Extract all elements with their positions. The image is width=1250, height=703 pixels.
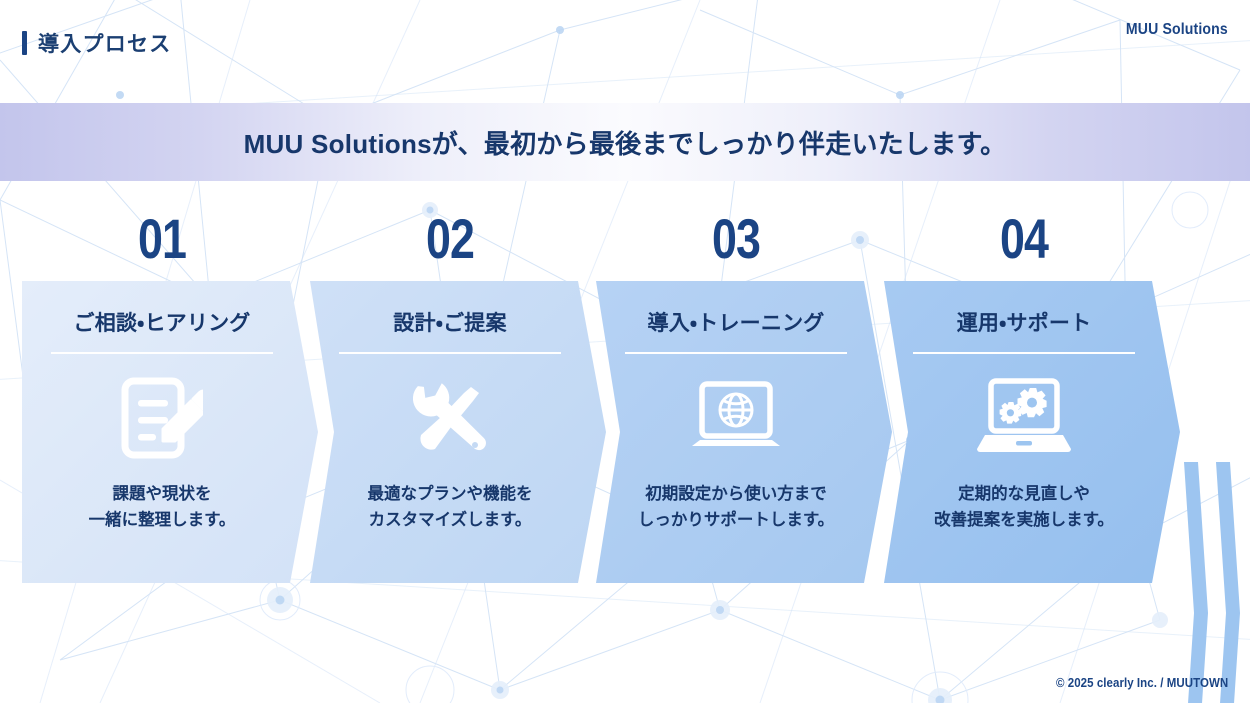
page-header: 導入プロセス MUU Solutions bbox=[0, 0, 1250, 96]
step-divider-03 bbox=[625, 352, 847, 354]
laptop-globe-icon bbox=[688, 372, 784, 464]
laptop-gears-icon bbox=[975, 372, 1073, 464]
process-step-03[interactable]: 03 導入・トレーニング bbox=[596, 181, 892, 601]
step-body-01: ご相談・ヒアリング 課題や現状を bbox=[22, 281, 302, 583]
step-desc-line-2: 一緒に整理します。 bbox=[89, 508, 236, 534]
step-number-03: 03 bbox=[624, 211, 848, 267]
step-description-04: 定期的な見直しや 改善提案を実施します。 bbox=[934, 482, 1114, 533]
title-accent-bar bbox=[22, 31, 27, 55]
step-desc-line-2: カスタマイズします。 bbox=[368, 508, 533, 534]
page-title: 導入プロセス bbox=[38, 28, 172, 58]
step-description-02: 最適なプランや機能を カスタマイズします。 bbox=[368, 482, 533, 533]
step-divider-02 bbox=[339, 352, 561, 354]
highlight-banner: MUU Solutionsが、最初から最後までしっかり伴走いたします。 bbox=[0, 103, 1250, 181]
step-divider-04 bbox=[913, 352, 1135, 354]
page-title-group: 導入プロセス bbox=[22, 28, 172, 58]
step-description-03: 初期設定から使い方まで しっかりサポートします。 bbox=[638, 482, 834, 533]
wrench-screwdriver-icon bbox=[407, 372, 493, 464]
document-pencil-icon bbox=[121, 372, 203, 464]
brand-logo-text: MUU Solutions bbox=[1126, 21, 1228, 39]
step-desc-line-2: しっかりサポートします。 bbox=[638, 508, 834, 534]
step-desc-line-1: 定期的な見直しや bbox=[934, 482, 1114, 508]
process-steps: 01 ご相談・ヒアリング bbox=[0, 181, 1250, 601]
step-body-02: 設計・ご提案 bbox=[310, 281, 590, 583]
step-desc-line-1: 最適なプランや機能を bbox=[368, 482, 533, 508]
footer-copyright: © 2025 clearly Inc. / MUUTOWN bbox=[1056, 676, 1228, 690]
step-description-01: 課題や現状を 一緒に整理します。 bbox=[89, 482, 236, 533]
step-title-01: ご相談・ヒアリング bbox=[73, 307, 250, 337]
step-title-03: 導入・トレーニング bbox=[647, 307, 824, 337]
decorative-chevron-strips bbox=[1168, 462, 1250, 703]
step-body-04: 運用・サポート bbox=[884, 281, 1164, 583]
step-desc-line-1: 課題や現状を bbox=[89, 482, 236, 508]
slide-canvas: 導入プロセス MUU Solutions MUU Solutionsが、最初から… bbox=[0, 0, 1250, 703]
step-desc-line-1: 初期設定から使い方まで bbox=[638, 482, 834, 508]
banner-text: MUU Solutionsが、最初から最後までしっかり伴走いたします。 bbox=[244, 124, 1007, 161]
step-desc-line-2: 改善提案を実施します。 bbox=[934, 508, 1114, 534]
process-step-01[interactable]: 01 ご相談・ヒアリング bbox=[22, 181, 318, 601]
process-step-04[interactable]: 04 運用・サポート bbox=[884, 181, 1180, 601]
step-divider-01 bbox=[51, 352, 273, 354]
step-number-04: 04 bbox=[912, 211, 1136, 267]
step-body-03: 導入・トレーニング bbox=[596, 281, 876, 583]
step-title-02: 設計・ご提案 bbox=[393, 307, 506, 337]
step-title-04: 運用・サポート bbox=[957, 307, 1092, 337]
process-step-02[interactable]: 02 設計・ご提案 bbox=[310, 181, 606, 601]
step-number-01: 01 bbox=[50, 211, 274, 267]
step-number-02: 02 bbox=[338, 211, 562, 267]
